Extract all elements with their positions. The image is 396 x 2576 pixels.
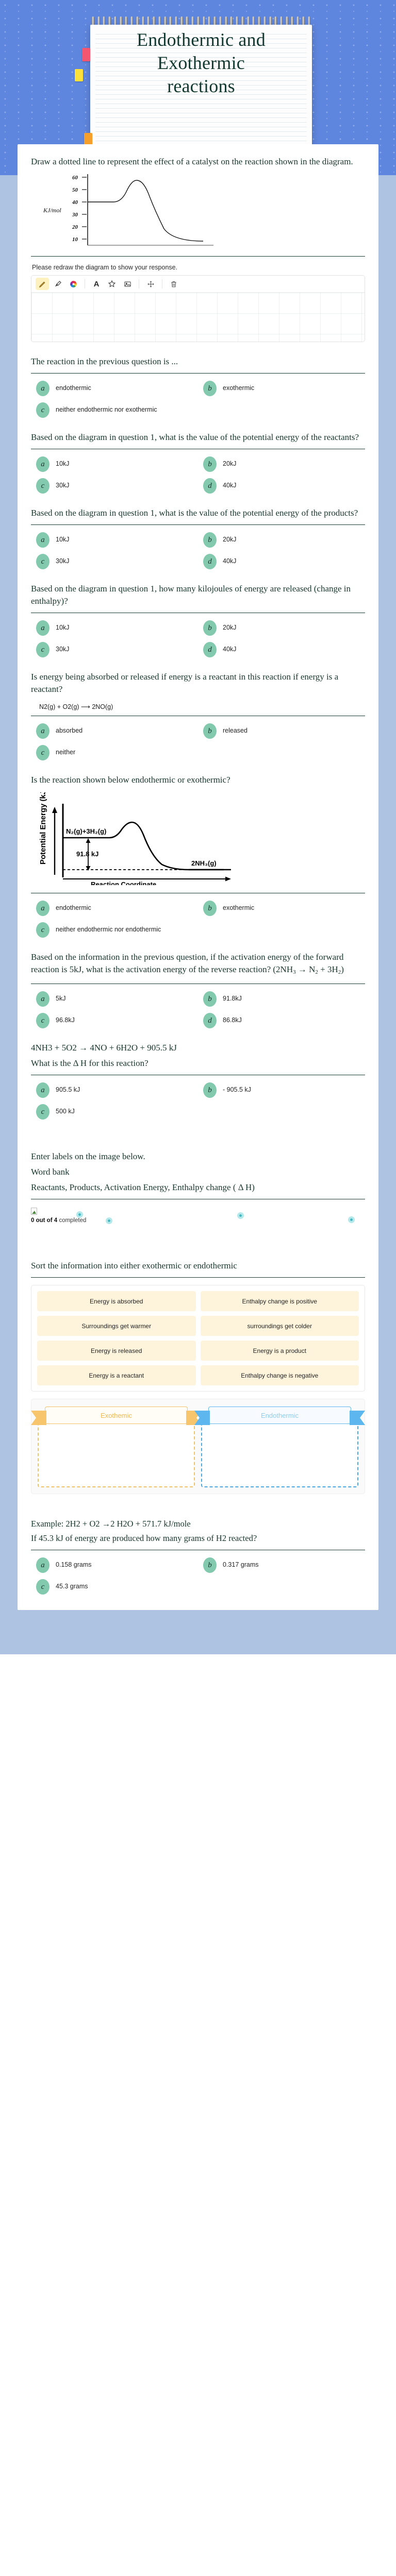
option-label: endothermic — [56, 901, 91, 912]
catalyst-diagram-y-label: KJ/mol — [43, 207, 61, 214]
option-c[interactable]: c 500 kJ — [36, 1104, 198, 1120]
option-a[interactable]: a absorbed — [36, 723, 198, 739]
question-8-prompt: Based on the information in the previous… — [31, 951, 365, 978]
exothermic-ribbon: Exothemic — [45, 1406, 188, 1424]
question-9-options: a 905.5 kJ b - 905.5 kJ c 500 kJ — [31, 1082, 365, 1120]
option-badge: a — [36, 456, 49, 472]
option-label: 91.8kJ — [223, 991, 242, 1003]
ribbon-flag-left-icon — [194, 1411, 210, 1425]
option-badge: c — [36, 922, 49, 938]
option-c[interactable]: c neither endothermic nor endothermic — [36, 922, 198, 938]
question-4-prompt: Based on the diagram in question 1, what… — [31, 507, 365, 519]
divider — [31, 373, 365, 374]
label-drop-point-4[interactable] — [348, 1216, 355, 1223]
question-3: Based on the diagram in question 1, what… — [31, 431, 365, 494]
question-6-equation: N2(g) + O2(g) ⟶ 2NO(g) — [39, 703, 365, 710]
option-label: 0.317 grams — [223, 1557, 258, 1569]
labels-progress-text: completed — [57, 1217, 86, 1224]
option-label: 40kJ — [223, 642, 236, 654]
option-c[interactable]: c 30kJ — [36, 642, 198, 657]
question-4: Based on the diagram in question 1, what… — [31, 507, 365, 569]
svg-text:10: 10 — [72, 236, 78, 243]
question-2: The reaction in the previous question is… — [31, 355, 365, 418]
worksheet-page: Endothermic and Exothermic reactions Dra… — [0, 0, 396, 1654]
option-badge: b — [203, 1557, 217, 1573]
divider — [31, 1199, 365, 1199]
question-2-prompt: The reaction in the previous question is… — [31, 355, 365, 368]
question-3-prompt: Based on the diagram in question 1, what… — [31, 431, 365, 444]
question-sheet: Draw a dotted line to represent the effe… — [18, 144, 378, 1610]
sort-card[interactable]: surroundings get colder — [201, 1316, 359, 1336]
pe-y-axis-label: Potential Energy (kJ) — [39, 792, 47, 865]
question-10-wordbank-title: Word bank — [31, 1166, 365, 1178]
sort-card[interactable]: Energy is released — [37, 1341, 196, 1361]
sheet-background: Draw a dotted line to represent the effe… — [0, 175, 396, 1654]
option-c[interactable]: c 96.8kJ — [36, 1013, 198, 1028]
question-3-options: a 10kJ b 20kJ c 30kJ d 40kJ — [31, 456, 365, 494]
option-c[interactable]: c 30kJ — [36, 554, 198, 569]
label-drop-point-1[interactable] — [76, 1211, 83, 1218]
option-a[interactable]: a endothermic — [36, 901, 198, 916]
sort-card[interactable]: Enthalpy change is negative — [201, 1365, 359, 1385]
option-d[interactable]: d 40kJ — [203, 478, 365, 494]
question-2-options: a endothermic b exothermic c neither end… — [31, 381, 365, 418]
divider — [31, 893, 365, 893]
sort-card[interactable]: Enthalpy change is positive — [201, 1291, 359, 1311]
exothermic-dropzone[interactable] — [38, 1420, 195, 1487]
sort-card[interactable]: Energy is a reactant — [37, 1365, 196, 1385]
question-8-prompt-part2: activation energy of the reverse reactio… — [126, 964, 293, 974]
option-badge: d — [203, 1013, 217, 1028]
image-icon[interactable] — [121, 278, 134, 290]
broken-image-icon — [31, 1208, 37, 1215]
option-a[interactable]: a 10kJ — [36, 620, 198, 636]
option-badge: a — [36, 901, 49, 916]
divider — [31, 256, 365, 257]
question-5-options: a 10kJ b 20kJ c 30kJ d 40kJ — [31, 620, 365, 657]
page-title-line1: Endothermic and — [90, 28, 312, 52]
sort-card[interactable]: Surroundings get warmer — [37, 1316, 196, 1336]
toolbar-divider — [139, 279, 139, 289]
option-b[interactable]: b - 905.5 kJ — [203, 1082, 365, 1098]
svg-text:40: 40 — [72, 199, 78, 206]
page-title-line3: reactions — [90, 75, 312, 98]
option-badge: b — [203, 901, 217, 916]
exothermic-label: Exothemic — [101, 1412, 132, 1419]
option-badge: c — [36, 1104, 49, 1120]
question-7-options: a endothermic b exothermic c neither end… — [31, 901, 365, 938]
option-label: exothermic — [223, 901, 254, 912]
ribbon-flag-left-icon — [31, 1411, 46, 1425]
star-icon[interactable] — [105, 278, 119, 290]
drawing-widget[interactable]: A — [31, 275, 365, 342]
svg-text:50: 50 — [72, 187, 78, 193]
option-label: 45.3 grams — [56, 1579, 88, 1591]
option-label: 86.8kJ — [223, 1013, 242, 1025]
question-5-prompt: Based on the diagram in question 1, how … — [31, 583, 365, 607]
option-label: 500 kJ — [56, 1104, 75, 1116]
brush-icon[interactable] — [51, 278, 64, 290]
option-badge: a — [36, 620, 49, 636]
divider — [31, 716, 365, 716]
option-label: released — [223, 723, 247, 735]
option-c[interactable]: c neither — [36, 745, 198, 760]
text-tool-icon[interactable]: A — [90, 278, 103, 290]
label-drop-point-2[interactable] — [106, 1217, 112, 1224]
option-label: 10kJ — [56, 532, 69, 544]
question-12-options: a 0.158 grams b 0.317 grams c 45.3 grams — [31, 1557, 365, 1595]
option-badge: b — [203, 620, 217, 636]
option-badge: c — [36, 745, 49, 760]
sort-card[interactable]: Energy is absorbed — [37, 1291, 196, 1311]
option-b[interactable]: b 0.317 grams — [203, 1557, 365, 1573]
label-drop-point-3[interactable] — [237, 1212, 244, 1219]
option-badge: b — [203, 1082, 217, 1098]
trash-icon[interactable] — [167, 278, 180, 290]
option-badge: a — [36, 723, 49, 739]
option-label: 905.5 kJ — [56, 1082, 80, 1094]
option-badge: b — [203, 532, 217, 548]
svg-text:60: 60 — [72, 175, 78, 181]
option-label: endothermic — [56, 381, 91, 393]
question-6-options: a absorbed b released c neither — [31, 723, 365, 760]
endothermic-dropzone[interactable] — [201, 1420, 358, 1487]
option-badge: a — [36, 1082, 49, 1098]
question-9-equation: 4NH3 + 5O2 → 4NO + 6H2O + 905.5 kJ — [31, 1042, 365, 1054]
question-12: Example: 2H2 + O2 →2 H2O + 571.7 kJ/mole… — [31, 1518, 365, 1595]
question-1: Draw a dotted line to represent the effe… — [31, 156, 365, 342]
divider — [31, 1550, 365, 1550]
sort-card[interactable]: Energy is a product — [201, 1341, 359, 1361]
option-badge: a — [36, 991, 49, 1007]
labels-progress-count: 0 out of 4 — [31, 1217, 57, 1224]
option-badge: d — [203, 554, 217, 569]
option-badge: a — [36, 1557, 49, 1573]
redraw-instruction: Please redraw the diagram to show your r… — [32, 264, 365, 271]
pe-reactant-label: N₂(g)+3H₂(g) — [66, 827, 106, 835]
option-label: neither — [56, 745, 75, 757]
drop-column-endothermic: Endothermic — [201, 1406, 358, 1487]
page-title-line2: Exothermic — [90, 52, 312, 75]
question-12-example: Example: 2H2 + O2 →2 H2O + 571.7 kJ/mole — [31, 1518, 365, 1530]
pe-delta-label: 91.8 kJ — [76, 850, 98, 858]
question-11-prompt: Sort the information into either exother… — [31, 1260, 365, 1272]
question-9: 4NH3 + 5O2 → 4NO + 6H2O + 905.5 kJ What … — [31, 1042, 365, 1120]
option-label: 20kJ — [223, 620, 236, 632]
page-title: Endothermic and Exothermic reactions — [90, 28, 312, 98]
question-12-prompt: If 45.3 kJ of energy are produced how ma… — [31, 1532, 365, 1545]
sticky-tab-pink-icon — [82, 48, 90, 61]
question-8-prompt-part4: + 3H — [318, 964, 338, 974]
option-label: neither endothermic nor endothermic — [56, 922, 161, 934]
divider — [31, 524, 365, 525]
question-7: Is the reaction shown below endothermic … — [31, 774, 365, 938]
toolbar-divider — [162, 279, 162, 289]
divider — [31, 1075, 365, 1075]
option-badge: c — [36, 402, 49, 418]
toolbar-divider — [85, 279, 85, 289]
option-badge: c — [36, 554, 49, 569]
sticky-tab-yellow-icon — [75, 69, 83, 81]
option-badge: d — [203, 642, 217, 657]
option-label: 10kJ — [56, 620, 69, 632]
option-label: 10kJ — [56, 456, 69, 468]
option-c[interactable]: c neither endothermic nor exothermic — [36, 402, 198, 418]
option-badge: a — [36, 381, 49, 396]
question-8-options: a 5kJ b 91.8kJ c 96.8kJ d 86.8kJ — [31, 991, 365, 1028]
option-d[interactable]: d 40kJ — [203, 642, 365, 657]
divider — [31, 984, 365, 984]
ribbon-flag-right-icon — [350, 1411, 365, 1425]
question-6-prompt: Is energy being absorbed or released if … — [31, 671, 365, 696]
sort-card-pool: Energy is absorbed Enthalpy change is po… — [31, 1285, 365, 1392]
question-1-prompt: Draw a dotted line to represent the effe… — [31, 156, 365, 168]
option-a[interactable]: a 0.158 grams — [36, 1557, 198, 1573]
move-icon[interactable] — [144, 278, 157, 290]
label-image-placeholder: 0 out of 4 completed — [31, 1207, 365, 1224]
option-label: absorbed — [56, 723, 82, 735]
question-6: Is energy being absorbed or released if … — [31, 671, 365, 760]
option-badge: b — [203, 381, 217, 396]
sort-drop-zones: Exothemic Endothermic — [31, 1399, 365, 1494]
question-11: Sort the information into either exother… — [31, 1260, 365, 1494]
option-badge: c — [36, 1579, 49, 1595]
option-label: neither endothermic nor exothermic — [56, 402, 157, 414]
option-a[interactable]: a 10kJ — [36, 532, 198, 548]
pe-product-label: 2NH₃(g) — [191, 859, 217, 867]
divider — [31, 1277, 365, 1278]
option-b[interactable]: b exothermic — [203, 381, 365, 396]
option-badge: b — [203, 723, 217, 739]
option-b[interactable]: b 20kJ — [203, 456, 365, 472]
option-label: 0.158 grams — [56, 1557, 91, 1569]
option-badge: b — [203, 991, 217, 1007]
option-d[interactable]: d 40kJ — [203, 554, 365, 569]
ammonia-energy-diagram: Potential Energy (kJ) N₂(g)+3H₂(g) 2NH₃(… — [34, 792, 365, 888]
divider — [31, 613, 365, 613]
option-a[interactable]: a 905.5 kJ — [36, 1082, 198, 1098]
question-8-prompt-part5: ) — [341, 964, 344, 974]
option-label: 20kJ — [223, 456, 236, 468]
question-10-prompt: Enter labels on the image below. — [31, 1150, 365, 1163]
option-b[interactable]: b exothermic — [203, 901, 365, 916]
drawing-toolbar: A — [31, 276, 365, 293]
question-8: Based on the information in the previous… — [31, 951, 365, 1028]
option-label: 30kJ — [56, 554, 69, 566]
option-b[interactable]: b 20kJ — [203, 532, 365, 548]
endothermic-ribbon: Endothermic — [208, 1406, 351, 1424]
question-8-prompt-part3: → N — [296, 964, 316, 974]
option-badge: c — [36, 478, 49, 494]
option-label: 30kJ — [56, 642, 69, 654]
option-label: 40kJ — [223, 478, 236, 490]
question-7-prompt: Is the reaction shown below endothermic … — [31, 774, 365, 786]
option-badge: a — [36, 532, 49, 548]
svg-text:30: 30 — [72, 212, 78, 218]
option-label: 40kJ — [223, 554, 236, 566]
endothermic-label: Endothermic — [261, 1412, 299, 1419]
question-5: Based on the diagram in question 1, how … — [31, 583, 365, 657]
option-label: - 905.5 kJ — [223, 1082, 251, 1094]
question-10: Enter labels on the image below. Word ba… — [31, 1150, 365, 1224]
question-10-wordbank: Reactants, Products, Activation Energy, … — [31, 1181, 365, 1194]
drop-column-exothermic: Exothemic — [38, 1406, 195, 1487]
color-wheel-icon[interactable] — [67, 278, 80, 290]
catalyst-energy-diagram: 60 50 40 30 20 10 — [33, 171, 365, 251]
svg-text:20: 20 — [72, 224, 78, 230]
option-badge: c — [36, 642, 49, 657]
question-9-prompt: What is the Δ H for this reaction? — [31, 1057, 365, 1070]
pe-x-axis-label: Reaction Coordinate — [91, 880, 156, 885]
option-c[interactable]: c 45.3 grams — [36, 1579, 198, 1595]
option-label: 5kJ — [56, 991, 65, 1003]
option-label: exothermic — [223, 381, 254, 393]
option-label: 30kJ — [56, 478, 69, 490]
option-a[interactable]: a endothermic — [36, 381, 198, 396]
option-label: 96.8kJ — [56, 1013, 75, 1025]
option-a[interactable]: a 5kJ — [36, 991, 198, 1007]
option-c[interactable]: c 30kJ — [36, 478, 198, 494]
option-d[interactable]: d 86.8kJ — [203, 1013, 365, 1028]
option-badge: d — [203, 478, 217, 494]
option-badge: c — [36, 1013, 49, 1028]
divider — [31, 449, 365, 449]
option-badge: b — [203, 456, 217, 472]
option-b[interactable]: b released — [203, 723, 365, 739]
option-b[interactable]: b 20kJ — [203, 620, 365, 636]
option-label: 20kJ — [223, 532, 236, 544]
option-b[interactable]: b 91.8kJ — [203, 991, 365, 1007]
question-4-options: a 10kJ b 20kJ c 30kJ d 40kJ — [31, 532, 365, 569]
option-a[interactable]: a 10kJ — [36, 456, 198, 472]
drawing-canvas[interactable] — [31, 293, 365, 342]
labels-progress: 0 out of 4 completed — [31, 1217, 365, 1224]
pencil-icon[interactable] — [36, 278, 49, 290]
